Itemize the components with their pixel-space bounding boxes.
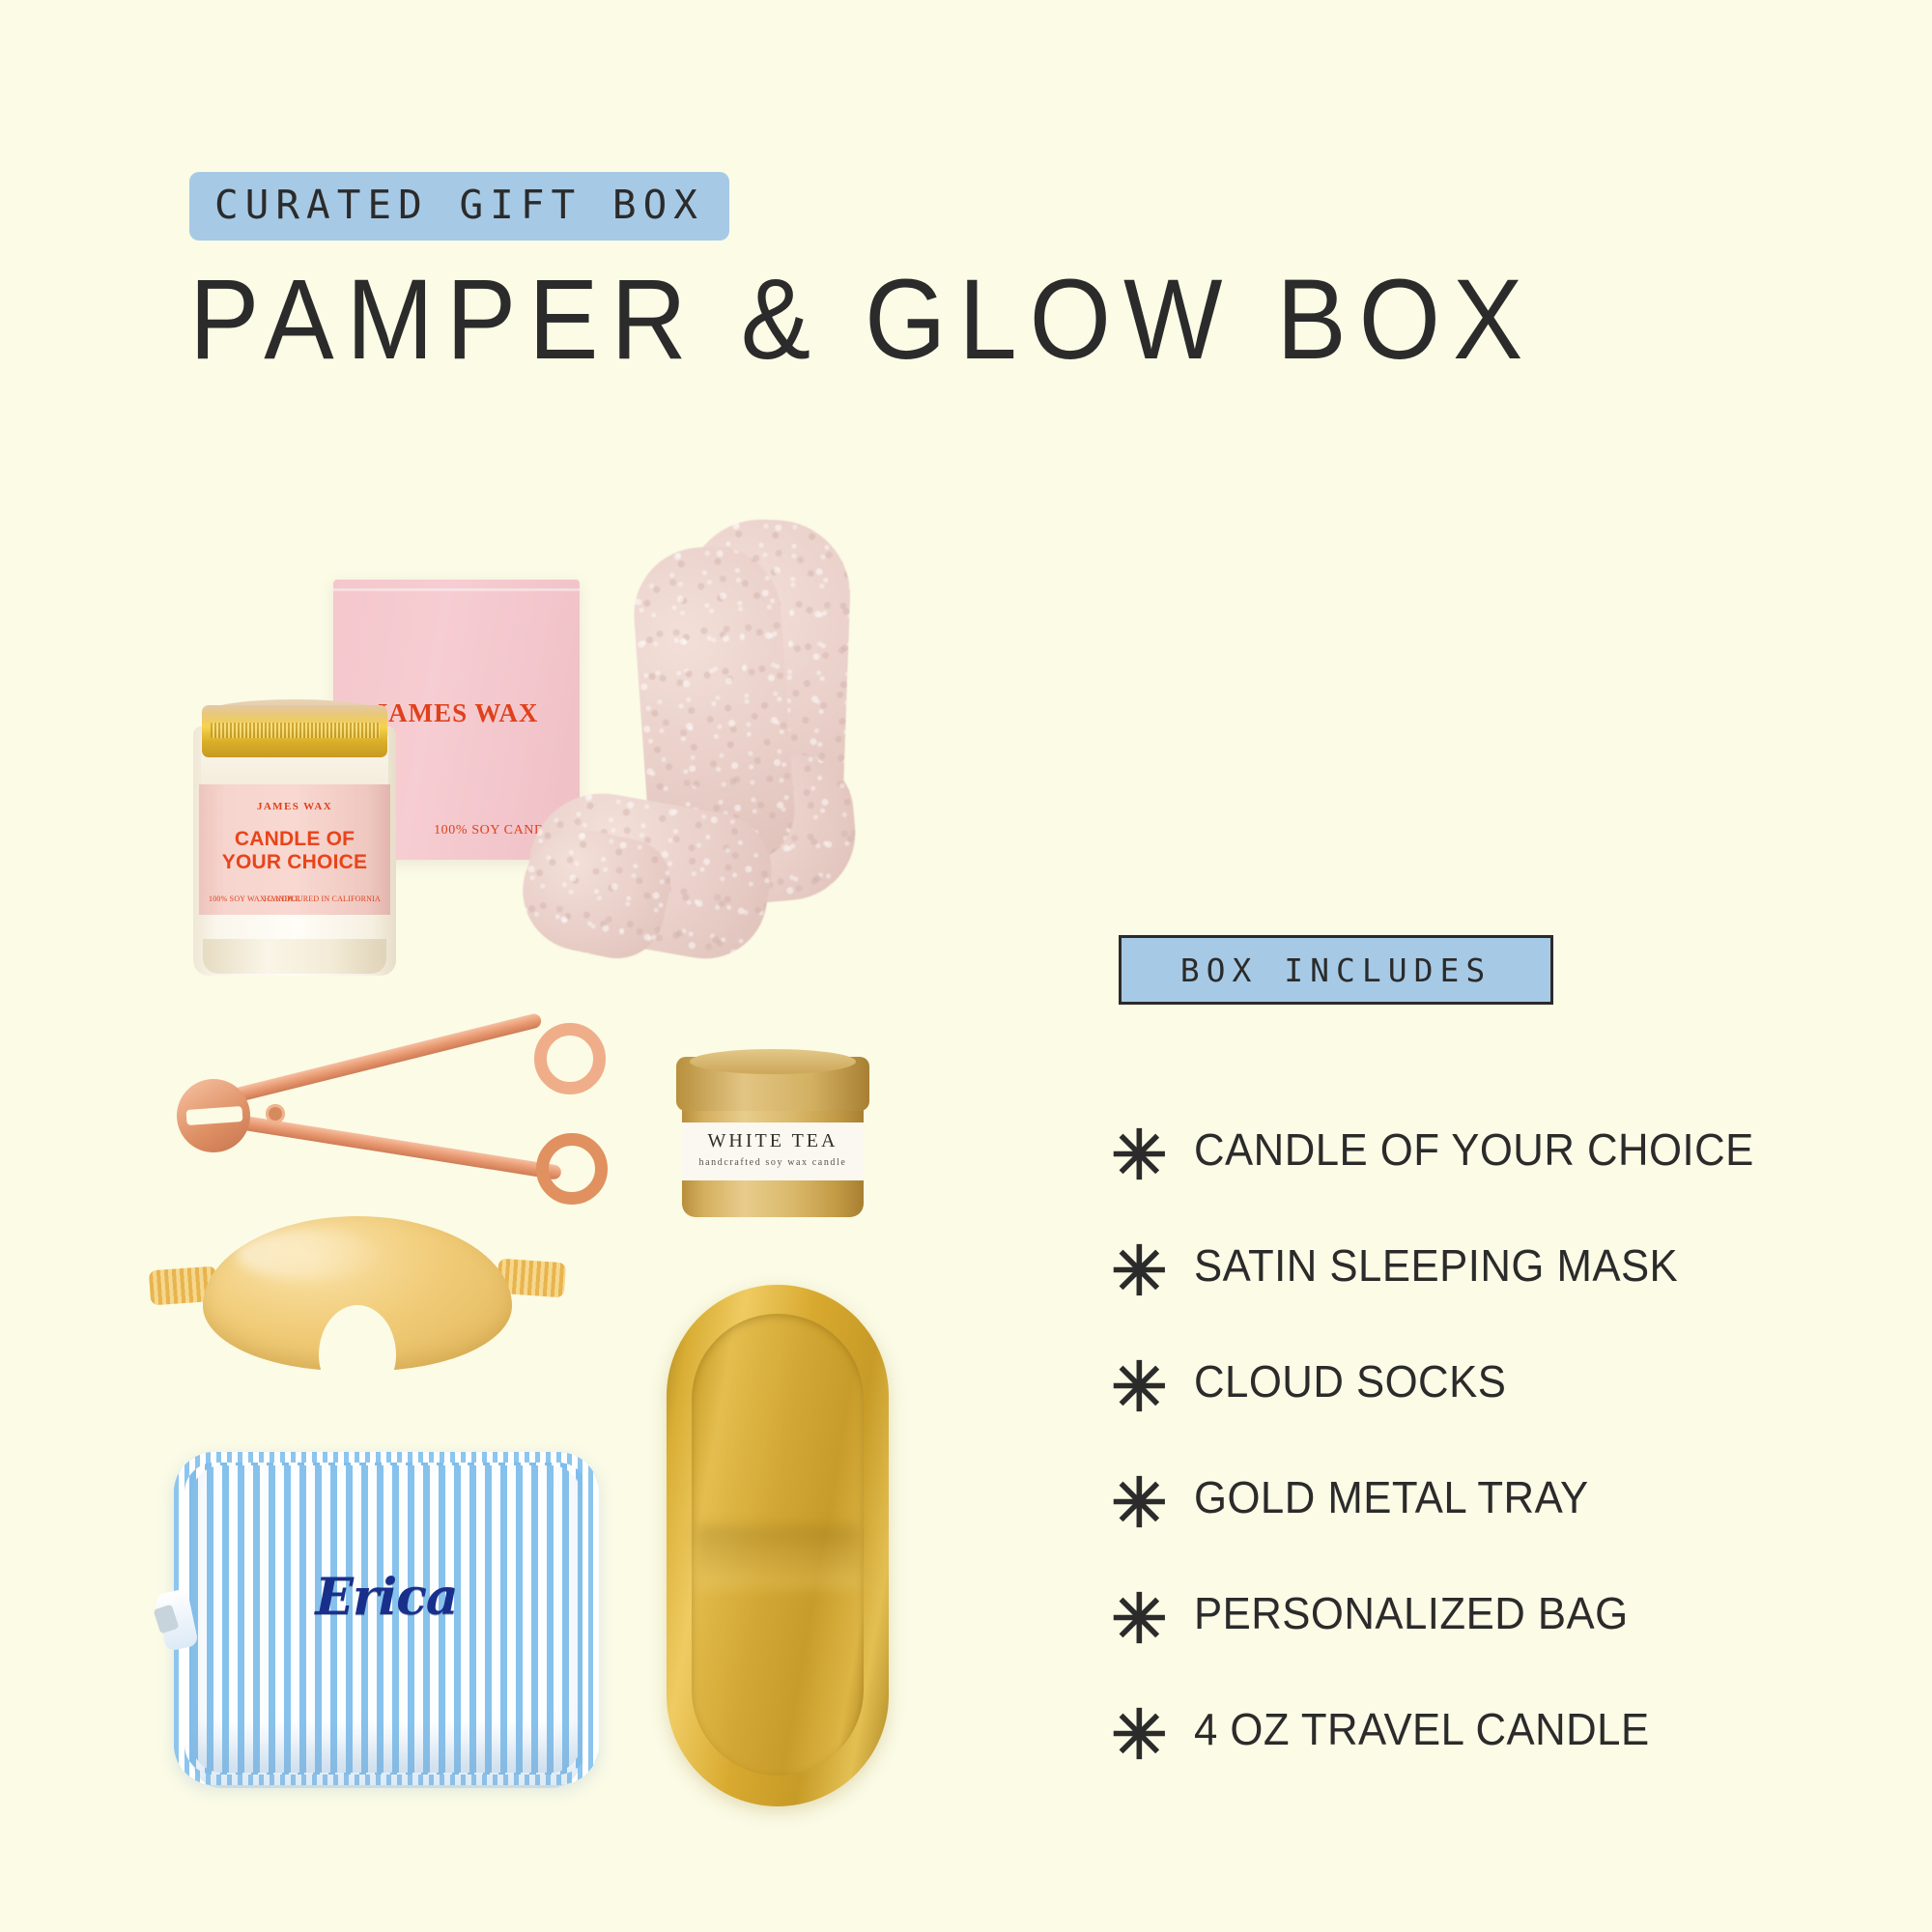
gold-metal-tray [667, 1285, 889, 1806]
jar-lid-ribs [211, 723, 380, 738]
list-item-label: GOLD METAL TRAY [1194, 1471, 1589, 1523]
list-item-label: SATIN SLEEPING MASK [1194, 1239, 1678, 1292]
jar-footnote-right: HANDPOURED IN CALIFORNIA [264, 895, 381, 903]
trimmer-arm-upper [220, 1012, 543, 1106]
asterisk-bullet-icon: ✳ [1111, 1353, 1194, 1421]
jar-base [203, 939, 386, 974]
asterisk-bullet-icon: ✳ [1111, 1469, 1194, 1537]
asterisk-bullet-icon: ✳ [1111, 1701, 1194, 1769]
jar-label-title: CANDLE OF YOUR CHOICE [199, 828, 390, 874]
tin-label-band: WHITE TEA handcrafted soy wax candle [682, 1122, 864, 1180]
list-item: ✳4 OZ TRAVEL CANDLE [1111, 1671, 1884, 1787]
cloud-socks [536, 512, 874, 1053]
tin-label-subtitle: handcrafted soy wax candle [682, 1157, 864, 1168]
jar-label-brand: JAMES WAX [199, 801, 390, 812]
jar-title-line2: YOUR CHOICE [222, 851, 367, 873]
asterisk-bullet-icon: ✳ [1111, 1237, 1194, 1305]
list-item: ✳SATIN SLEEPING MASK [1111, 1207, 1884, 1323]
list-item: ✳PERSONALIZED BAG [1111, 1555, 1884, 1671]
satin-sleep-mask [150, 1212, 565, 1401]
list-item-label: CANDLE OF YOUR CHOICE [1194, 1123, 1754, 1176]
list-item: ✳CLOUD SOCKS [1111, 1323, 1884, 1439]
tin-label-title: WHITE TEA [682, 1130, 864, 1152]
jar-title-line1: CANDLE OF [235, 828, 355, 850]
trimmer-ring-lower [536, 1133, 608, 1205]
trimmer-ring-upper [534, 1023, 606, 1094]
trimmer-arm-lower [231, 1114, 562, 1180]
travel-candle-tin: WHITE TEA handcrafted soy wax candle [676, 1053, 869, 1227]
list-item: ✳GOLD METAL TRAY [1111, 1439, 1884, 1555]
box-includes-list: ✳CANDLE OF YOUR CHOICE✳SATIN SLEEPING MA… [1111, 1092, 1884, 1787]
box-includes-badge: BOX INCLUDES [1119, 935, 1553, 1005]
jar-label: JAMES WAX CANDLE OF YOUR CHOICE 100% SOY… [199, 784, 390, 915]
list-item: ✳CANDLE OF YOUR CHOICE [1111, 1092, 1884, 1207]
tray-reflection [696, 1526, 860, 1588]
wick-trimmer [150, 1019, 623, 1207]
tin-lid-top [690, 1049, 856, 1074]
gift-box-graphic: CURATED GIFT BOX PAMPER & GLOW BOX JAMES… [0, 0, 1932, 1932]
personalized-bag: Erica [155, 1444, 618, 1802]
eyebrow-badge: CURATED GIFT BOX [189, 172, 729, 241]
candle-jar: JAMES WAX CANDLE OF YOUR CHOICE 100% SOY… [193, 676, 396, 976]
list-item-label: PERSONALIZED BAG [1194, 1587, 1629, 1639]
trimmer-pivot-screw [266, 1104, 285, 1123]
bag-monogram: Erica [155, 1568, 618, 1627]
list-item-label: 4 OZ TRAVEL CANDLE [1194, 1703, 1650, 1755]
asterisk-bullet-icon: ✳ [1111, 1585, 1194, 1653]
bag-bottom-shadow [191, 1720, 582, 1788]
asterisk-bullet-icon: ✳ [1111, 1122, 1194, 1189]
page-title: PAMPER & GLOW BOX [189, 263, 1535, 377]
mask-sheen [237, 1230, 382, 1280]
list-item-label: CLOUD SOCKS [1194, 1355, 1506, 1407]
